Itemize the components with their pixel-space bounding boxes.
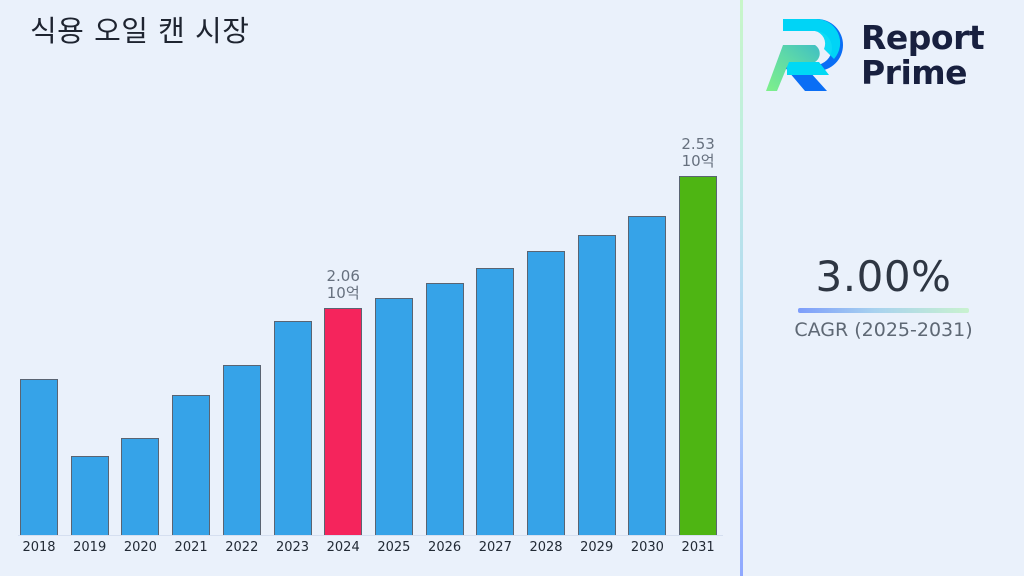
x-tick-2028: 2028 [527,540,565,555]
bar-2022[interactable] [223,1,261,536]
bar-rect-2030[interactable] [628,216,666,536]
bar-rect-2031[interactable] [679,176,717,536]
bar-value-unit-2031: 10억 [681,153,714,170]
bar-rect-2028[interactable] [527,251,565,536]
bar-rect-2025[interactable] [375,298,413,536]
bar-value-label-2031: 2.5310억 [681,136,714,170]
bar-2030[interactable] [628,1,666,536]
x-axis-tick-labels: 2018201920202021202220232024202520262027… [0,540,740,570]
bar-rect-2023[interactable] [274,321,312,536]
bar-value-unit-2024: 10억 [326,285,359,302]
report-prime-wordmark: Report Prime [861,20,984,90]
bar-2028[interactable] [527,1,565,536]
logo-line-1: Report [861,20,984,55]
bar-value-label-2024: 2.0610억 [326,268,359,302]
x-tick-2021: 2021 [172,540,210,555]
bar-rect-2021[interactable] [172,395,210,536]
cagr-caption: CAGR (2025-2031) [743,319,1024,341]
bar-2019[interactable] [71,1,109,536]
bar-rect-2019[interactable] [71,456,109,536]
cagr-value: 3.00% [743,252,1024,301]
bar-2020[interactable] [121,1,159,536]
cagr-divider-rule [798,308,969,313]
bar-2024[interactable]: 2.0610억 [324,1,362,536]
bar-value-2031: 2.53 [681,136,714,153]
bar-rect-2018[interactable] [20,379,58,536]
bar-2031[interactable]: 2.5310억 [679,1,717,536]
x-axis-baseline [18,535,723,536]
x-tick-2029: 2029 [578,540,616,555]
cagr-block: 3.00% CAGR (2025-2031) [743,252,1024,341]
x-tick-2018: 2018 [20,540,58,555]
bar-rect-2026[interactable] [426,283,464,536]
screenshot-canvas: 식용 오일 캔 시장 2.0610억2.5310억 20182019202020… [0,0,1024,576]
bar-rect-2020[interactable] [121,438,159,536]
x-tick-2020: 2020 [121,540,159,555]
bar-2025[interactable] [375,1,413,536]
bar-2023[interactable] [274,1,312,536]
bar-2021[interactable] [172,1,210,536]
chart-panel: 식용 오일 캔 시장 2.0610억2.5310억 20182019202020… [0,0,740,576]
bar-rect-2027[interactable] [476,268,514,536]
bar-2026[interactable] [426,1,464,536]
x-tick-2019: 2019 [71,540,109,555]
bar-rect-2024[interactable] [324,308,362,536]
x-tick-2027: 2027 [476,540,514,555]
bar-2029[interactable] [578,1,616,536]
bar-2018[interactable] [20,1,58,536]
bar-rect-2022[interactable] [223,365,261,536]
bar-chart-plot-area: 2.0610억2.5310억 [0,0,740,536]
logo-line-2: Prime [861,55,984,90]
x-tick-2026: 2026 [426,540,464,555]
branding-panel: Report Prime 3.00% CAGR (2025-2031) [743,0,1024,576]
report-prime-logo: Report Prime [765,10,1010,100]
bar-value-2024: 2.06 [326,268,359,285]
x-tick-2024: 2024 [324,540,362,555]
bar-2027[interactable] [476,1,514,536]
x-tick-2031: 2031 [679,540,717,555]
report-prime-logo-icon [765,15,851,95]
x-tick-2023: 2023 [274,540,312,555]
x-tick-2025: 2025 [375,540,413,555]
x-tick-2022: 2022 [223,540,261,555]
x-tick-2030: 2030 [628,540,666,555]
bar-rect-2029[interactable] [578,235,616,536]
